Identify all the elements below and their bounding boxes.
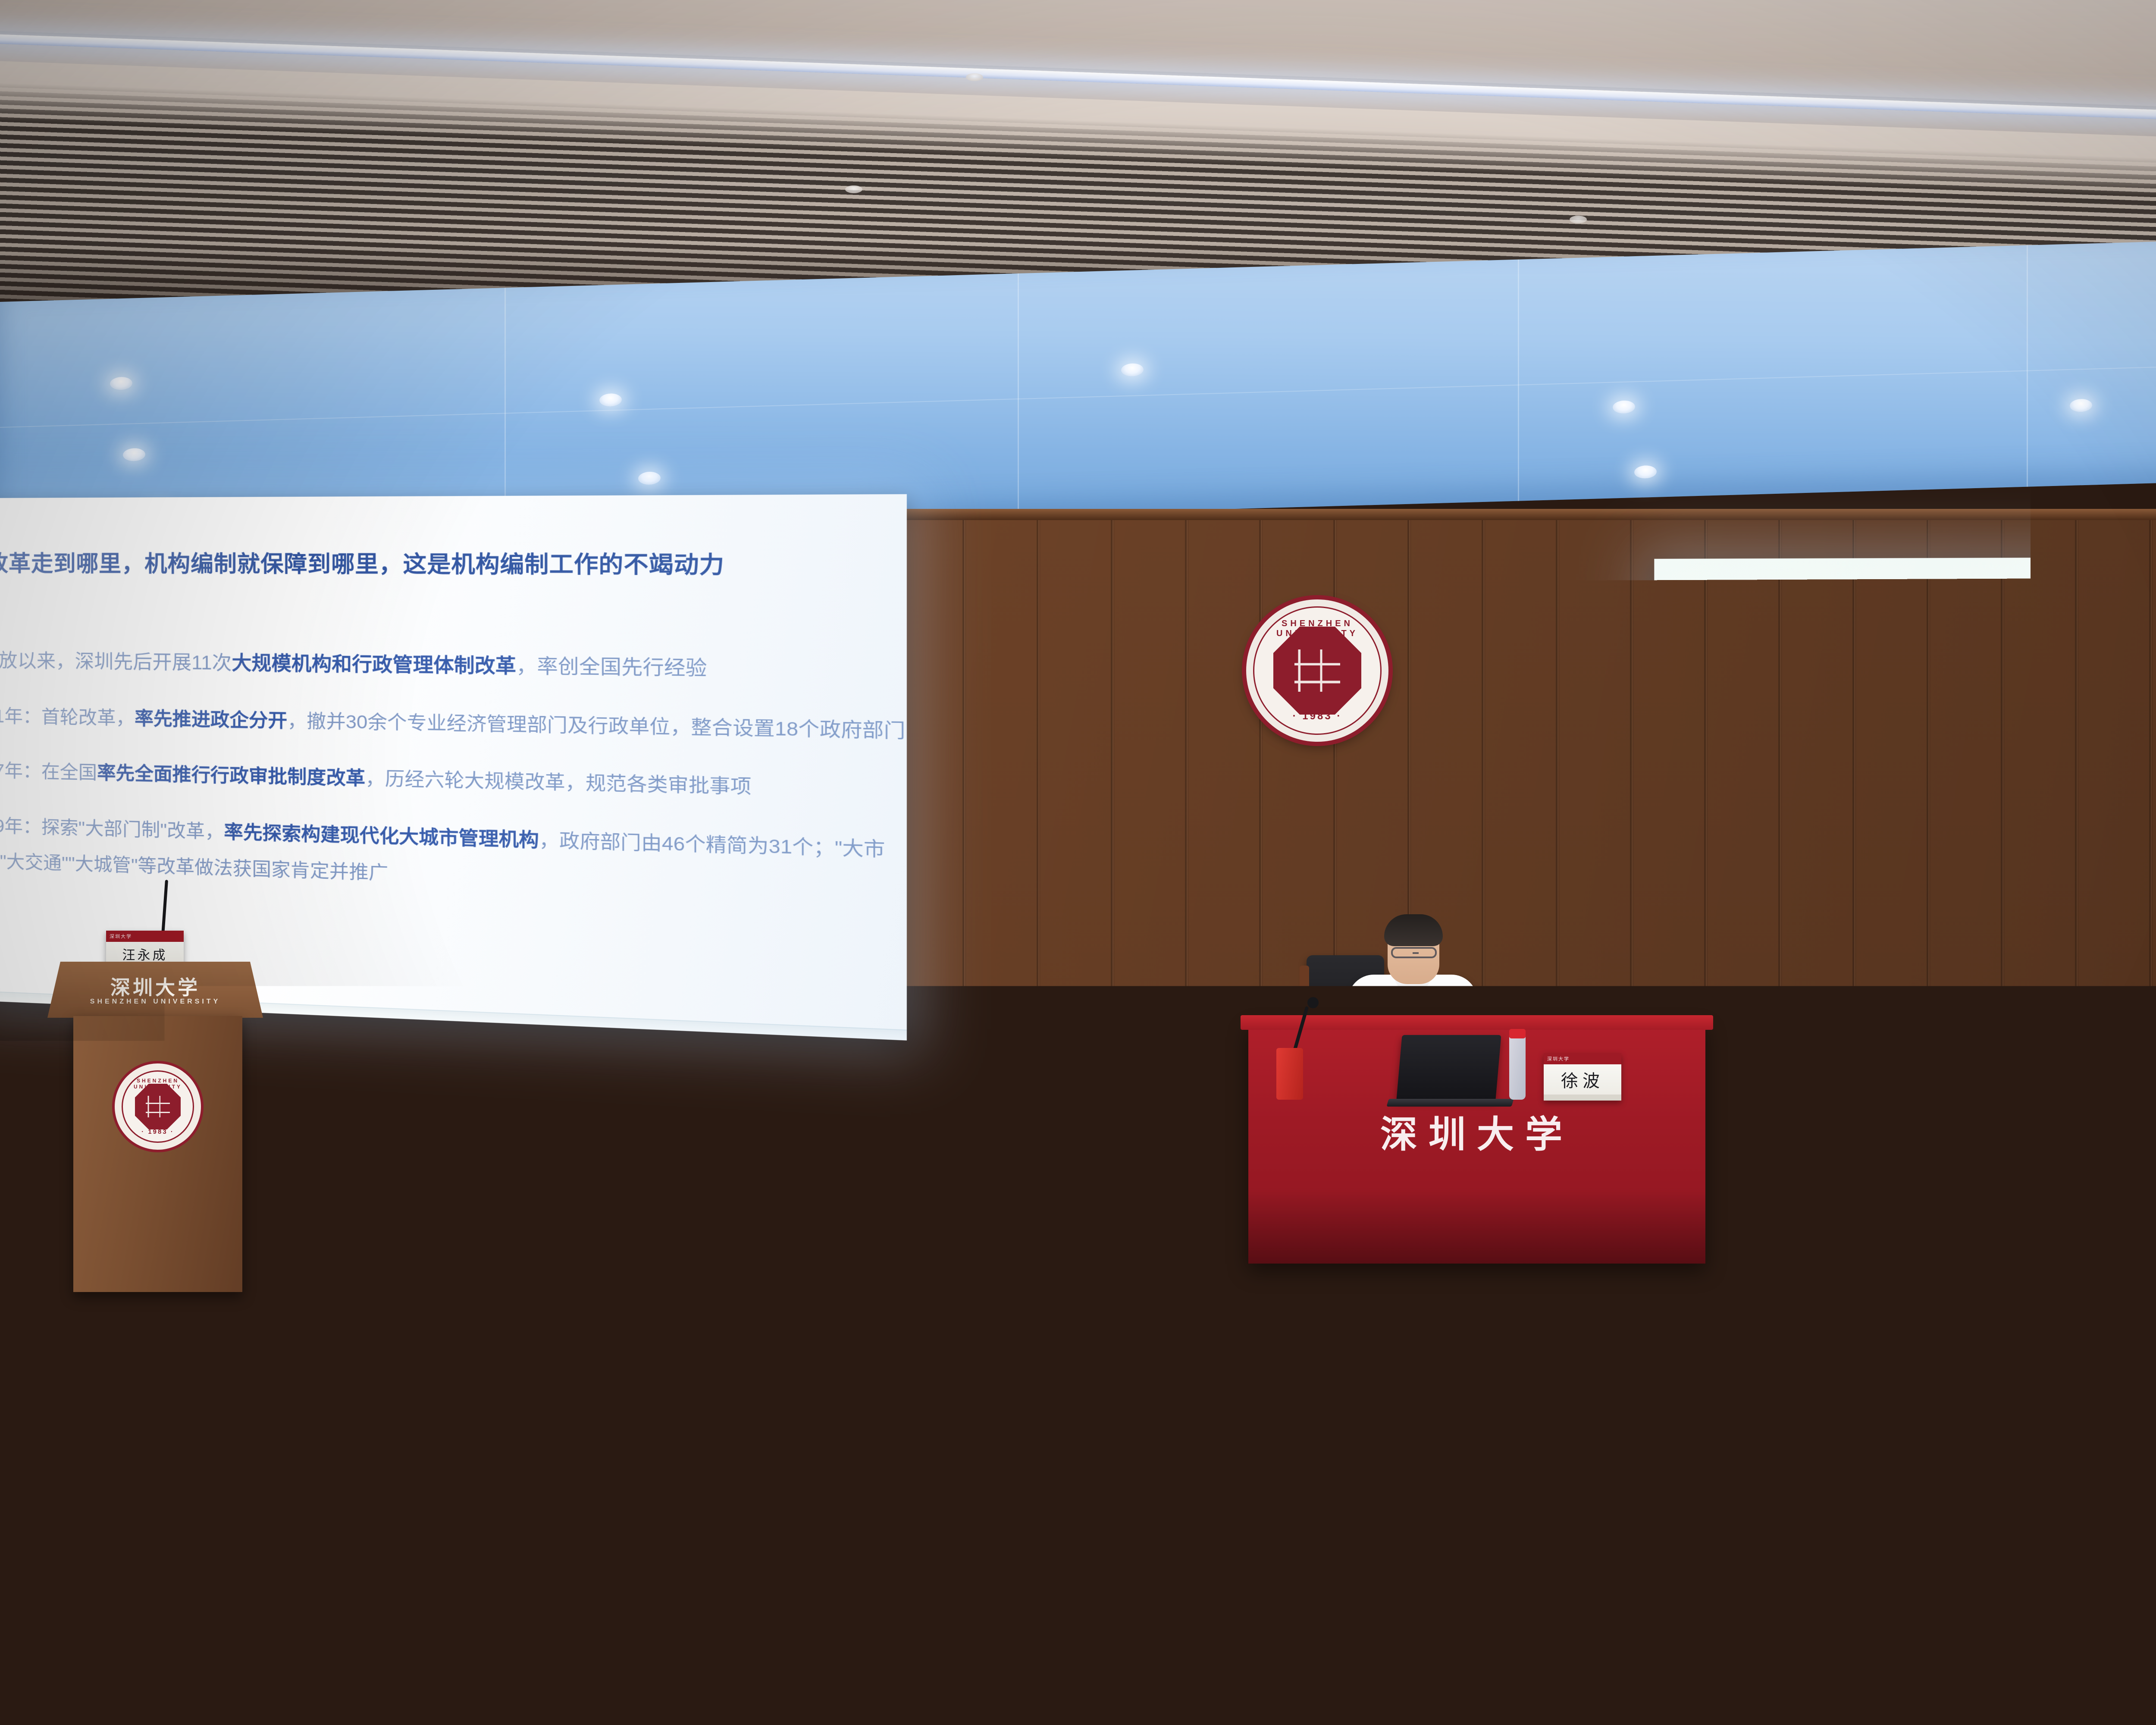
person-head xyxy=(60,1492,181,1630)
audience-member xyxy=(298,1483,483,1699)
person-head xyxy=(1007,1232,1062,1297)
person-head xyxy=(1846,1522,1967,1663)
audience-member xyxy=(509,1230,595,1325)
bullet-post: ，撤并30余个专业经济管理部门及行政单位，整合设置18个政府部门 xyxy=(1904,725,2156,740)
person-shoulders xyxy=(582,1621,794,1725)
slide-title: 敢为人先，勇立潮头 xyxy=(1729,576,1947,609)
person-shoulders xyxy=(505,1285,599,1350)
person-shoulders xyxy=(987,1289,1082,1353)
person-shoulders xyxy=(668,1288,763,1352)
person-shoulders xyxy=(2022,1295,2118,1361)
audience-member xyxy=(673,1233,759,1327)
audience-member xyxy=(198,1232,285,1327)
audience-member xyxy=(1181,1364,1302,1502)
ceiling-vent-dot xyxy=(845,185,862,193)
intro-emphasis: 大规模机构和行政管理体制改革 xyxy=(232,652,516,678)
person-head xyxy=(373,1228,429,1292)
person-shoulders xyxy=(1798,1644,2010,1725)
slide-intro-paragraph: 改革开放以来，深圳先后开展11次大规模机构和行政管理体制改革，率创全国先行经验 xyxy=(0,646,907,689)
audience-member xyxy=(992,1232,1078,1327)
ceiling-vent-dot xyxy=(1570,216,1587,223)
nameplate-org-bar: 深圳大学 xyxy=(106,931,184,942)
slide-bullet-item: 1981年：首轮改革，率先推进政企分开，撤并30余个专业经济管理部门及行政单位，… xyxy=(1713,721,2156,745)
person-head xyxy=(524,1230,580,1294)
water-bottle xyxy=(1608,1287,1620,1327)
ceiling-downlight xyxy=(1613,400,1635,414)
bullet-post: ，政府部门由46个精简为31个；"大市 xyxy=(539,830,885,860)
seat-row xyxy=(2096,1421,2156,1509)
person-shoulders xyxy=(884,1617,1096,1725)
bullet-year: 1981年： xyxy=(1727,731,1771,743)
bullet-year: 2009年： xyxy=(0,815,41,837)
audience-member xyxy=(707,1360,828,1498)
audience-member xyxy=(52,1229,138,1324)
bullet-emphasis: 率先探索构建现代化大城市管理机构 xyxy=(1871,793,2032,808)
diamond-bullet-icon xyxy=(1712,732,1720,742)
person-shoulders xyxy=(1921,1181,1991,1228)
audience-laptop xyxy=(1518,1354,1626,1432)
person-shoulders xyxy=(1774,1179,1845,1226)
person-shoulders xyxy=(110,1180,179,1227)
ceiling-downlight xyxy=(1121,363,1144,376)
soffit-seam xyxy=(2027,245,2028,487)
bullet-emphasis: 率先推进政企分开 xyxy=(135,709,287,732)
water-bottle-cap xyxy=(1509,1029,1526,1038)
intro-emphasis: 大规模机构和行政管理体制改革 xyxy=(1875,694,2023,708)
person-head xyxy=(1883,1238,1939,1302)
person-shoulders xyxy=(194,1287,289,1352)
table-top-edge xyxy=(1241,1015,1713,1030)
audience-member xyxy=(34,1354,155,1492)
person-shoulders xyxy=(519,1181,590,1228)
bullet-pre: 探索"大部门制"改革， xyxy=(41,817,224,843)
slide-bullet-list: 1981年：首轮改革，率先推进政企分开，撤并30余个专业经济管理部门及行政单位，… xyxy=(0,702,907,906)
presenter-laptop-base xyxy=(1386,1099,1514,1107)
audience-member xyxy=(1708,1236,1794,1335)
ceiling-downlight xyxy=(638,471,661,485)
audience-member xyxy=(1811,1522,1996,1725)
ceiling-vent-dot xyxy=(966,73,983,81)
audience-member xyxy=(1915,1370,2035,1508)
audience-member xyxy=(26,1492,211,1708)
person-shoulders xyxy=(47,1284,142,1349)
intro-suffix: ，率创全国先行经验 xyxy=(516,655,707,680)
person-shoulders xyxy=(1863,1294,1959,1359)
bullet-year: 1981年： xyxy=(0,706,41,728)
audience-member xyxy=(112,1138,177,1203)
slide-lead-line: ——改革走到哪里，机构编制就保障到哪里，这是机构编制工作的不竭动力 xyxy=(1713,637,2156,659)
audience-member xyxy=(1867,1238,1953,1337)
bullet-year: 1997年： xyxy=(1727,765,1771,777)
presentation-slide-right: 敢为人先，勇立潮头 深圳大学 SHENZHEN UNIVERSITY ——改革走… xyxy=(1654,556,2156,1040)
presenter-hair xyxy=(1384,914,1443,946)
slide-bullet-item: 1997年：在全国率先全面推行行政审批制度改革，历经六轮大规模改革，规范各类审批… xyxy=(0,756,907,810)
bullet-pre: 首轮改革， xyxy=(1771,731,1822,743)
bullet-year: 1997年： xyxy=(0,760,41,782)
person-head xyxy=(1723,1236,1779,1301)
intro-suffix: ，率创全国先行经验 xyxy=(2023,693,2116,706)
water-bottle xyxy=(1841,1285,1852,1325)
emblem-ring: SHENZHEN UNIVERSITY · 1983 · xyxy=(1253,606,1382,735)
person-head xyxy=(1695,1368,1773,1458)
audience-member xyxy=(241,1136,306,1201)
ceiling-downlight xyxy=(110,376,132,390)
bullet-pre: 探索"大部门制"改革， xyxy=(1771,797,1871,809)
water-bottle xyxy=(1828,1420,1843,1471)
audience-member xyxy=(522,1139,586,1204)
nameplate-org: 深圳大学 xyxy=(1547,1055,1570,1062)
audience-member xyxy=(1203,1514,1388,1725)
person-head xyxy=(67,1229,122,1293)
nameplate-base xyxy=(1544,1095,1621,1101)
person-head xyxy=(1445,1366,1523,1457)
person-head xyxy=(931,1496,1053,1636)
presenter-glasses xyxy=(1391,947,1437,958)
person-shoulders xyxy=(354,1283,448,1348)
audience-member xyxy=(241,1358,362,1496)
audience-member xyxy=(923,1139,987,1204)
slide-header: 敢为人先，勇立潮头 深圳大学 SHENZHEN UNIVERSITY xyxy=(1654,556,2156,615)
person-shoulders xyxy=(791,1179,862,1226)
person-head xyxy=(263,1358,341,1447)
person-head xyxy=(1544,1505,1665,1646)
podium-english-name: SHENZHEN UNIVERSITY xyxy=(47,998,263,1006)
soffit-seam xyxy=(1518,260,1519,501)
podium-chinese-name: 深圳大学 xyxy=(47,972,263,1000)
person-shoulders xyxy=(13,1611,224,1725)
audience-member xyxy=(379,1138,444,1202)
person-head xyxy=(688,1233,743,1296)
intro-prefix: 改革开放以来，深圳先后开展11次 xyxy=(1713,696,1875,710)
person-head xyxy=(1936,1370,2015,1461)
slide-bullet-item: 1997年：在全国率先全面推行行政审批制度改革，历经六轮大规模改革，规范各类审批… xyxy=(1713,753,2156,779)
diamond-bullet-icon xyxy=(1712,799,1720,809)
bullet-emphasis: 率先全面推行行政审批制度改革 xyxy=(1802,762,1945,775)
ceiling-downlight xyxy=(599,393,622,407)
bullet-post: ，撤并30余个专业经济管理部门及行政单位，整合设置18个政府部门 xyxy=(287,711,905,742)
audience-member xyxy=(466,1357,586,1495)
audience-member xyxy=(1509,1505,1695,1721)
person-head xyxy=(56,1354,134,1443)
ceiling-downlight xyxy=(1634,465,1657,479)
emblem-octagon-glyph xyxy=(1273,627,1361,715)
slide-bullet-item: 1981年：首轮改革，率先推进政企分开，撤并30余个专业经济管理部门及行政单位，… xyxy=(0,702,907,749)
audience-member xyxy=(897,1496,1082,1712)
presenter-laptop-screen xyxy=(1396,1035,1501,1100)
person-shoulders xyxy=(653,1176,724,1224)
person-shoulders xyxy=(1703,1292,1799,1358)
nameplate-org-bar: 深圳大学 xyxy=(1544,1053,1621,1064)
audience-member xyxy=(1923,1139,1988,1204)
slide-bullet-item: 2009年：探索"大部门制"改革，率先探索构建现代化大城市管理机构，政府部门由4… xyxy=(1713,785,2156,812)
person-head xyxy=(962,1362,1040,1452)
soffit-seam xyxy=(1018,273,1019,515)
audience-member xyxy=(1673,1368,1794,1506)
person-head xyxy=(214,1232,269,1295)
podium-header-panel: 深圳大学 SHENZHEN UNIVERSITY xyxy=(47,962,263,1018)
audience-member xyxy=(2078,1136,2143,1201)
slide-bullet-list: 1981年：首轮改革，率先推进政企分开，撤并30余个专业经济管理部门及行政单位，… xyxy=(1713,721,2156,831)
red-cup xyxy=(1276,1048,1303,1100)
slide-intro-paragraph: 改革开放以来，深圳先后开展11次大规模机构和行政管理体制改革，率创全国先行经验 xyxy=(1713,688,2156,712)
person-shoulders xyxy=(828,1285,923,1350)
diamond-bullet-icon xyxy=(1712,765,1720,776)
bullet-year: 2009年： xyxy=(1727,798,1771,810)
person-shoulders xyxy=(285,1603,496,1725)
bullet-post: ，历经六轮大规模改革，规范各类审批事项 xyxy=(1945,759,2134,773)
slide-title-mark-icon xyxy=(1682,580,1718,607)
ceiling-downlight xyxy=(2070,398,2092,412)
audience-member xyxy=(832,1230,918,1325)
person-head xyxy=(1203,1364,1282,1455)
bullet-emphasis: 率先推进政企分开 xyxy=(1823,730,1904,742)
person-shoulders xyxy=(920,1181,991,1228)
bullet-post: ，政府部门由46个精简为31个；"大市 xyxy=(2032,791,2156,805)
audience-seating xyxy=(0,1113,2156,1725)
audience-member xyxy=(595,1501,780,1716)
bullet-pre: 在全国 xyxy=(41,762,97,784)
intro-prefix: 改革开放以来，深圳先后开展11次 xyxy=(0,649,232,674)
person-head xyxy=(2147,1514,2156,1655)
water-bottle xyxy=(1509,1035,1526,1100)
person-shoulders xyxy=(2076,1177,2147,1225)
slide-content-card: ——改革走到哪里，机构编制就保障到哪里，这是机构编制工作的不竭动力 改革开放以来… xyxy=(1682,610,2156,966)
projection-screen-right: 敢为人先，勇立潮头 深圳大学 SHENZHEN UNIVERSITY ——改革走… xyxy=(1654,556,2156,1040)
audience-laptop xyxy=(1992,1596,2134,1695)
nameplate-name: 徐波 xyxy=(1544,1064,1621,1095)
shenzhen-university-wall-emblem: SHENZHEN UNIVERSITY · 1983 · xyxy=(1246,599,1388,742)
emblem-founding-year: · 1983 · xyxy=(1254,710,1380,722)
person-head xyxy=(2042,1239,2098,1304)
person-head xyxy=(630,1501,751,1640)
lecture-hall-photo: SHENZHEN UNIVERSITY · 1983 · 安全出口 敢为人先，勇… xyxy=(0,0,2156,1725)
person-shoulders xyxy=(239,1176,310,1224)
audience-member xyxy=(2027,1239,2113,1339)
person-shoulders xyxy=(377,1179,448,1226)
audience-member xyxy=(940,1362,1061,1500)
slide-footer-text: 深圳的治理优势，正是靠一次次"敢为人先"改出来、闯出来、试出来的 xyxy=(1916,975,2156,999)
person-head xyxy=(729,1360,807,1450)
audience-member xyxy=(655,1135,720,1200)
soffit-seam-horizontal xyxy=(0,354,2156,428)
person-head xyxy=(487,1357,566,1446)
bullet-post: ，历经六轮大规模改革，规范各类审批事项 xyxy=(365,768,751,798)
audience-member xyxy=(1777,1138,1841,1202)
bullet-emphasis: 率先全面推行行政审批制度改革 xyxy=(97,763,365,790)
ceiling-downlight xyxy=(123,448,145,461)
person-head xyxy=(1238,1514,1359,1654)
head-table-nameplate: 深圳大学 徐波 xyxy=(1544,1053,1621,1101)
bullet-pre: 首轮改革， xyxy=(41,707,135,729)
bullet-pre: 在全国 xyxy=(1771,764,1802,776)
person-head xyxy=(332,1483,453,1622)
slide-lead-line: ——改革走到哪里，机构编制就保障到哪里，这是机构编制工作的不竭动力 xyxy=(0,549,907,583)
person-shoulders xyxy=(1190,1635,1402,1725)
person-head xyxy=(848,1230,903,1294)
table-microphone-head xyxy=(1307,997,1319,1008)
person-shoulders xyxy=(1496,1627,1708,1725)
audience-member xyxy=(793,1138,858,1202)
audience-member xyxy=(358,1228,444,1323)
nameplate-org: 深圳大学 xyxy=(110,933,132,940)
bullet-emphasis: 率先探索构建现代化大城市管理机构 xyxy=(224,822,539,851)
soffit-seam xyxy=(505,288,506,529)
